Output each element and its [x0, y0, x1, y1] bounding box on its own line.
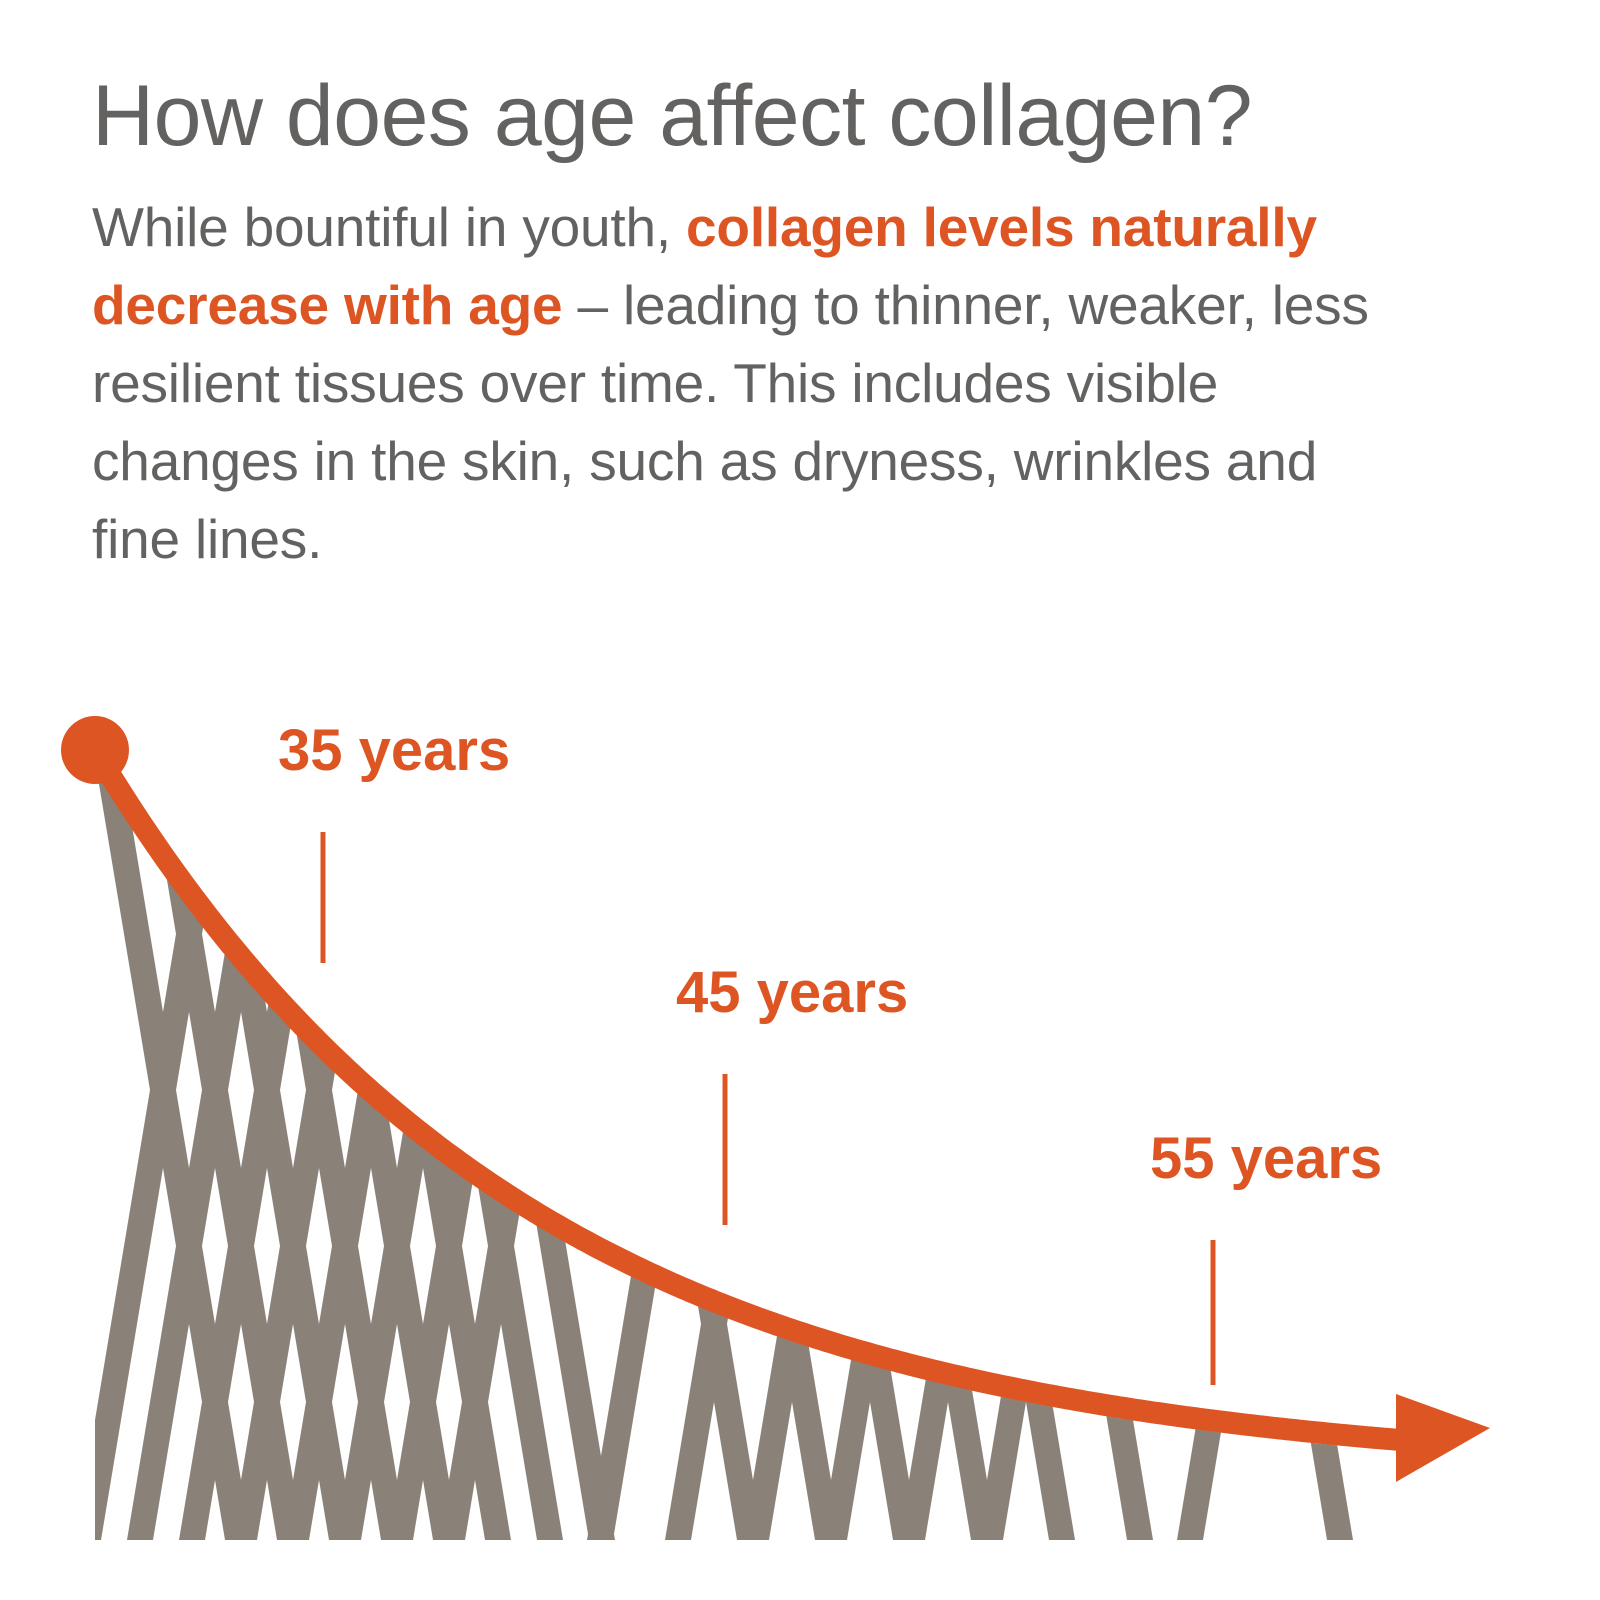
curve-arrow-head — [1396, 1394, 1490, 1482]
page-title: How does age affect collagen? — [92, 68, 1492, 164]
header-text-block: How does age affect collagen? While boun… — [92, 68, 1492, 578]
age-label-35: 35 years — [278, 718, 510, 783]
curve-start-marker — [61, 716, 129, 784]
body-text-part1: While bountiful in youth, — [92, 196, 686, 258]
body-paragraph: While bountiful in youth, collagen level… — [92, 188, 1382, 578]
chart-svg: 35 years45 years55 years — [0, 640, 1600, 1600]
infographic-page: How does age affect collagen? While boun… — [0, 0, 1600, 1600]
age-label-55: 55 years — [1150, 1126, 1382, 1191]
collagen-fibre — [1177, 640, 1353, 1540]
age-label-45: 45 years — [676, 960, 908, 1025]
collagen-fibre — [1177, 640, 1353, 1540]
collagen-decline-chart: 35 years45 years55 years — [0, 640, 1600, 1600]
